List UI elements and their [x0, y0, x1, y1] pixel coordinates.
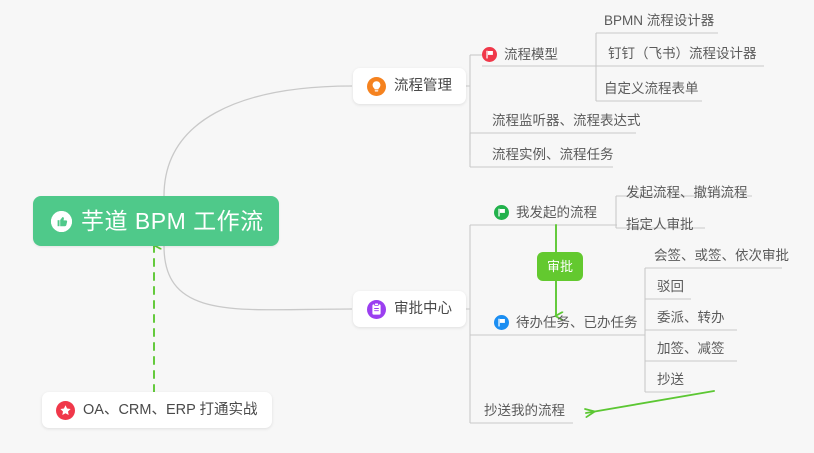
clipboard-icon [367, 300, 386, 319]
node-label-process-model: 流程模型 [504, 48, 558, 62]
node-label-todo-done-tasks: 待办任务、已办任务 [516, 316, 638, 330]
node-add-remove-sign[interactable]: 加签、减签 [657, 342, 725, 361]
node-bpmn-designer[interactable]: BPMN 流程设计器 [604, 14, 714, 33]
root-label: 芋道 BPM 工作流 [81, 210, 264, 233]
root-node[interactable]: 芋道 BPM 工作流 [33, 196, 279, 246]
node-process-model[interactable]: 流程模型 [482, 47, 558, 67]
branch-label-process-management: 流程管理 [394, 79, 452, 94]
node-dingtalk-feishu-designer[interactable]: 钉钉（飞书）流程设计器 [608, 47, 757, 66]
node-reject[interactable]: 驳回 [657, 280, 684, 299]
node-custom-process-form[interactable]: 自定义流程表单 [604, 82, 699, 101]
thumbs-up-icon [51, 211, 72, 232]
integration-note-label: OA、CRM、ERP 打通实战 [83, 403, 258, 418]
approval-callout-label: 审批 [537, 252, 583, 281]
node-assignee-approval[interactable]: 指定人审批 [626, 218, 694, 237]
node-instance-task[interactable]: 流程实例、流程任务 [492, 148, 614, 167]
node-my-started-processes[interactable]: 我发起的流程 [494, 205, 597, 225]
mindmap-canvas: 芋道 BPM 工作流 流程管理 流程模型 流程监听器、流程表达式 流程实例、流程… [0, 0, 814, 453]
flag-icon [494, 315, 509, 330]
branch-label-approval-center: 审批中心 [394, 302, 452, 317]
node-delegate-transfer[interactable]: 委派、转办 [657, 311, 725, 330]
branch-node-approval-center[interactable]: 审批中心 [353, 291, 466, 327]
node-label-my-started-processes: 我发起的流程 [516, 206, 597, 220]
flag-icon [494, 205, 509, 220]
flag-icon [482, 47, 497, 62]
lightbulb-icon [367, 77, 386, 96]
node-carbon-copy[interactable]: 抄送 [657, 373, 684, 392]
node-countersign-or-sequential[interactable]: 会签、或签、依次审批 [654, 249, 789, 268]
star-badge-icon [56, 401, 75, 420]
branch-node-process-management[interactable]: 流程管理 [353, 68, 466, 104]
node-start-cancel-process[interactable]: 发起流程、撤销流程 [626, 186, 748, 205]
node-todo-done-tasks[interactable]: 待办任务、已办任务 [494, 315, 638, 335]
node-cc-to-me-processes[interactable]: 抄送我的流程 [484, 404, 565, 423]
node-listener-expression[interactable]: 流程监听器、流程表达式 [492, 114, 641, 133]
carbon-copy-arrow [586, 391, 714, 413]
integration-note-node[interactable]: OA、CRM、ERP 打通实战 [42, 392, 272, 428]
